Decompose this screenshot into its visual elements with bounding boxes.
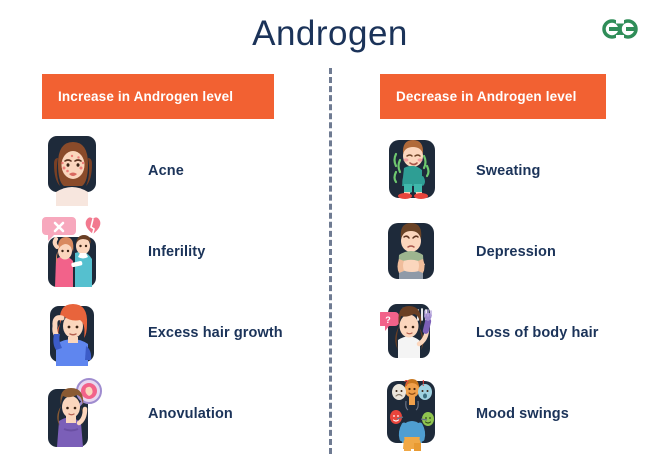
svg-text:?: ? (404, 379, 409, 388)
list-item-label: Sweating (476, 163, 540, 179)
list-item-label: Anovulation (148, 406, 233, 422)
list-item-label: Inferility (148, 244, 205, 260)
page-title: Androgen (0, 12, 660, 56)
list-item: ? ! Mood swings (380, 373, 650, 454)
person-depressed-illustration (380, 215, 442, 289)
column-header-decrease: Decrease in Androgen level (380, 74, 606, 119)
list-item-label: Excess hair growth (148, 325, 283, 341)
list-item: ? Loss of body hair (380, 292, 650, 373)
woman-hair-brush-illustration: ? (380, 296, 442, 370)
column-header-decrease-label: Decrease in Androgen level (396, 89, 576, 104)
list-item-label: Acne (148, 163, 184, 179)
infographic-canvas: Androgen Increase in Androgen level Decr… (0, 0, 660, 472)
list-item: Inferility (42, 211, 322, 292)
list-item-label: Loss of body hair (476, 325, 599, 341)
boy-sweating-illustration (380, 134, 442, 208)
list-item: Anovulation (42, 373, 322, 454)
svg-text:!: ! (422, 379, 425, 388)
person-mood-masks-illustration: ? ! (380, 377, 442, 451)
list-item-label: Depression (476, 244, 556, 260)
list-item: Excess hair growth (42, 292, 322, 373)
decrease-symptom-list: Sweating Depression (380, 130, 650, 454)
list-item-label: Mood swings (476, 406, 569, 422)
couple-pregnancy-test-illustration (42, 215, 104, 289)
woman-with-acne-illustration (42, 134, 104, 208)
increase-symptom-list: Acne (42, 130, 322, 454)
list-item: Depression (380, 211, 650, 292)
woman-excess-hair-illustration (42, 296, 104, 370)
column-divider (329, 68, 332, 454)
column-header-increase-label: Increase in Androgen level (58, 89, 233, 104)
list-item: Acne (42, 130, 322, 211)
svg-text:?: ? (385, 315, 391, 325)
column-header-increase: Increase in Androgen level (42, 74, 274, 119)
list-item: Sweating (380, 130, 650, 211)
geeksforgeeks-logo (598, 14, 642, 44)
woman-ovulation-chart-illustration (42, 377, 104, 451)
